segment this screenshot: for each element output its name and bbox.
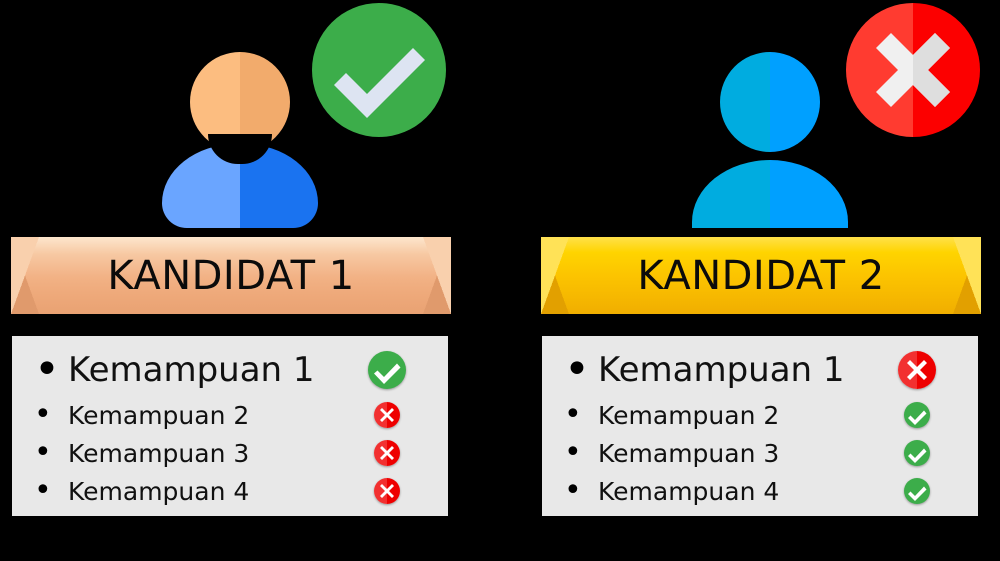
person-head [720, 52, 820, 152]
x-circle-icon [374, 402, 400, 428]
skill-row: • Kemampuan 1 [542, 344, 978, 396]
skill-label: Kemampuan 4 [598, 477, 904, 506]
ribbon-bevel-left [541, 237, 569, 314]
check-circle-icon [904, 478, 930, 504]
candidate-2-avatar-group [530, 0, 1000, 235]
skill-row: • Kemampuan 3 [12, 434, 448, 472]
skill-row: • Kemampuan 4 [12, 472, 448, 510]
skill-row: • Kemampuan 3 [542, 434, 978, 472]
skill-row: • Kemampuan 2 [12, 396, 448, 434]
x-circle-icon [374, 440, 400, 466]
ribbon-bevel-left [11, 237, 39, 314]
check-circle-icon [312, 3, 446, 137]
candidate-1-title: KANDIDAT 1 [107, 256, 354, 296]
skill-label: Kemampuan 4 [68, 477, 374, 506]
skill-label: Kemampuan 1 [598, 350, 898, 390]
skill-row: • Kemampuan 4 [542, 472, 978, 510]
skill-label: Kemampuan 3 [598, 439, 904, 468]
x-circle-icon [898, 351, 936, 389]
x-circle-icon [374, 478, 400, 504]
candidate-1-avatar-group [0, 0, 470, 235]
candidate-1-skills-panel: • Kemampuan 1 • Kemampuan 2 • [12, 336, 448, 516]
candidate-1-title-ribbon: KANDIDAT 1 [11, 237, 451, 314]
skill-row: • Kemampuan 1 [12, 344, 448, 396]
candidate-2-title-ribbon: KANDIDAT 2 [541, 237, 981, 314]
check-circle-icon [904, 402, 930, 428]
check-circle-icon [368, 351, 406, 389]
skill-label: Kemampuan 1 [68, 350, 368, 390]
ribbon-bevel-right [953, 237, 981, 314]
candidate-column-2: KANDIDAT 2 • Kemampuan 1 • Kemampuan 2 [530, 0, 1000, 561]
ribbon-bevel-right [423, 237, 451, 314]
skill-label: Kemampuan 2 [598, 401, 904, 430]
person-icon [160, 52, 320, 227]
skill-row: • Kemampuan 2 [542, 396, 978, 434]
person-body [692, 160, 848, 228]
candidate-column-1: KANDIDAT 1 • Kemampuan 1 • Kemampuan 2 [0, 0, 470, 561]
candidate-2-skills-panel: • Kemampuan 1 • Kemampuan 2 • [542, 336, 978, 516]
slide-canvas: KANDIDAT 1 • Kemampuan 1 • Kemampuan 2 [0, 0, 1000, 561]
person-icon [690, 52, 850, 227]
skill-label: Kemampuan 3 [68, 439, 374, 468]
skill-label: Kemampuan 2 [68, 401, 374, 430]
x-circle-icon [846, 3, 980, 137]
check-circle-icon [904, 440, 930, 466]
candidate-2-title: KANDIDAT 2 [637, 256, 884, 296]
